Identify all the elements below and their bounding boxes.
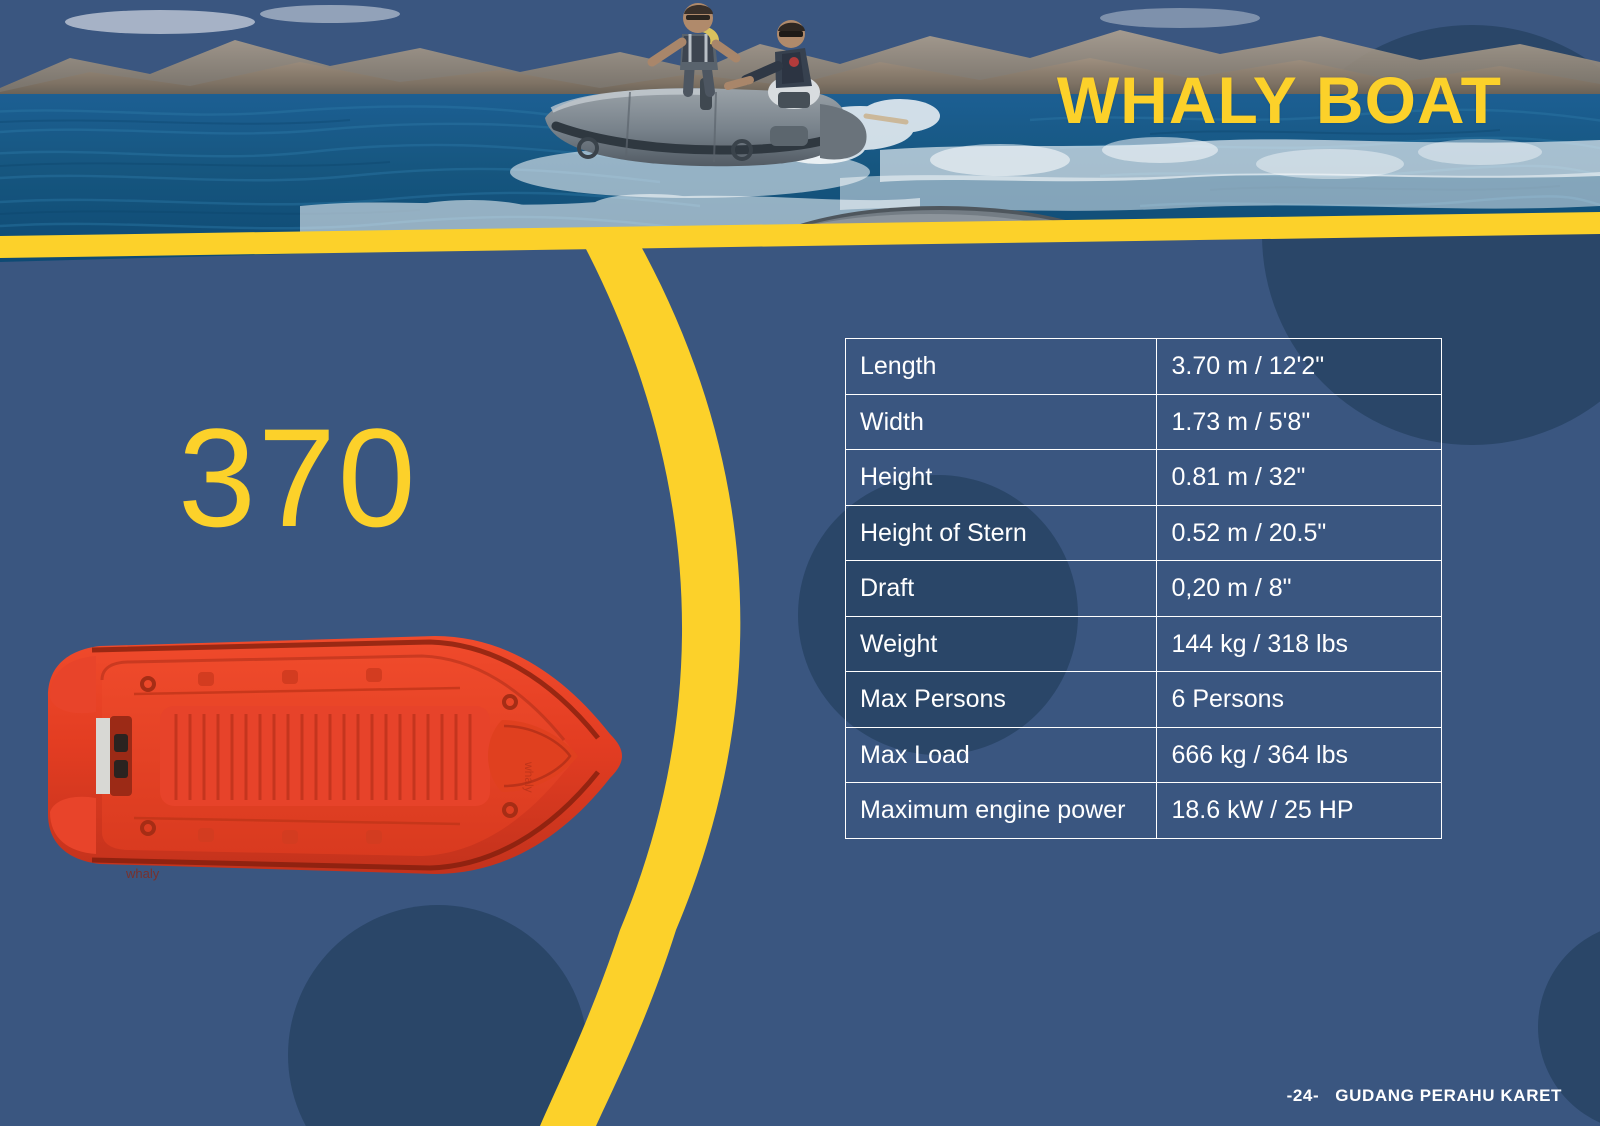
- spec-value: 666 kg / 364 lbs: [1157, 727, 1442, 783]
- slide-root: 0%: [0, 0, 1600, 1126]
- spec-value: 0.52 m / 20.5": [1157, 505, 1442, 561]
- table-row: Weight 144 kg / 318 lbs: [846, 616, 1442, 672]
- spec-label: Max Load: [846, 727, 1157, 783]
- product-boat-image: whaly whaly: [30, 610, 650, 900]
- specifications-table: Length 3.70 m / 12'2" Width 1.73 m / 5'8…: [845, 338, 1442, 839]
- spec-value: 3.70 m / 12'2": [1157, 339, 1442, 395]
- table-row: Maximum engine power 18.6 kW / 25 HP: [846, 783, 1442, 839]
- spec-value: 0.81 m / 32": [1157, 450, 1442, 506]
- table-row: Max Persons 6 Persons: [846, 672, 1442, 728]
- table-row: Height 0.81 m / 32": [846, 450, 1442, 506]
- svg-text:whaly: whaly: [522, 761, 536, 793]
- spec-value: 144 kg / 318 lbs: [1157, 616, 1442, 672]
- table-row: Height of Stern 0.52 m / 20.5": [846, 505, 1442, 561]
- spec-label: Height of Stern: [846, 505, 1157, 561]
- footer-brand: GUDANG PERAHU KARET: [1335, 1086, 1562, 1106]
- table-row: Max Load 666 kg / 364 lbs: [846, 727, 1442, 783]
- model-number: 370: [178, 408, 418, 548]
- page-title: WHALY BOAT: [1057, 62, 1502, 138]
- footer: -24- GUDANG PERAHU KARET: [1287, 1086, 1562, 1106]
- spec-value: 0,20 m / 8": [1157, 561, 1442, 617]
- spec-label: Max Persons: [846, 672, 1157, 728]
- spec-label: Maximum engine power: [846, 783, 1157, 839]
- spec-label: Weight: [846, 616, 1157, 672]
- spec-value: 1.73 m / 5'8": [1157, 394, 1442, 450]
- table-row: Width 1.73 m / 5'8": [846, 394, 1442, 450]
- svg-text:whaly: whaly: [125, 866, 160, 881]
- decorative-circle-bottom: [288, 905, 588, 1126]
- page-number: -24-: [1287, 1086, 1320, 1106]
- table-row: Draft 0,20 m / 8": [846, 561, 1442, 617]
- spec-label: Width: [846, 394, 1157, 450]
- spec-label: Height: [846, 450, 1157, 506]
- spec-value: 18.6 kW / 25 HP: [1157, 783, 1442, 839]
- table-row: Length 3.70 m / 12'2": [846, 339, 1442, 395]
- spec-value: 6 Persons: [1157, 672, 1442, 728]
- spec-label: Draft: [846, 561, 1157, 617]
- spec-label: Length: [846, 339, 1157, 395]
